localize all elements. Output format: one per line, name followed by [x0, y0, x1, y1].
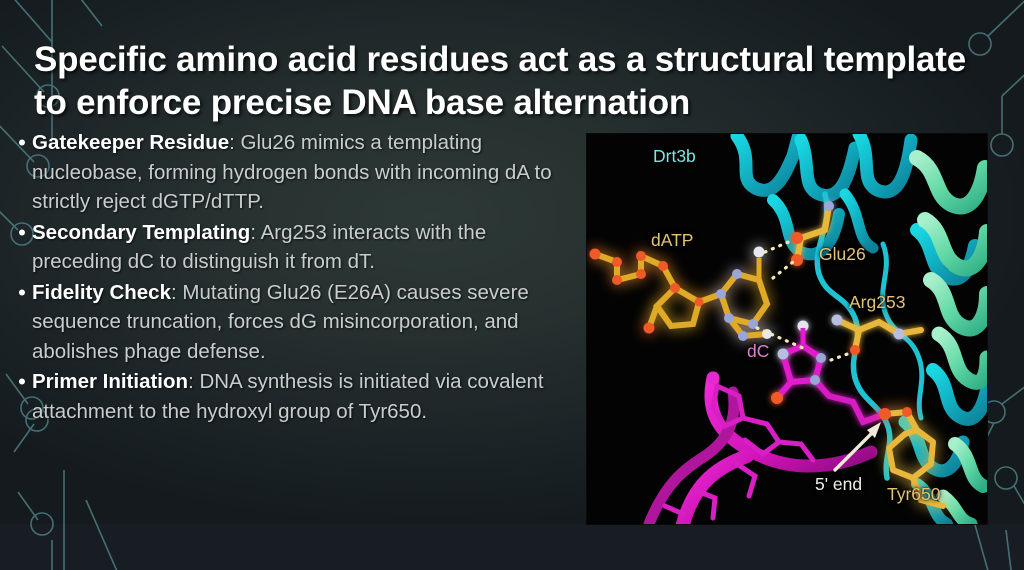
bullet-marker: • [12, 367, 32, 397]
bullet-marker: • [12, 128, 32, 158]
bullet-list: • Gatekeeper Residue: Glu26 mimics a tem… [12, 128, 572, 427]
bullet-separator: : [171, 281, 182, 304]
bullet-content: Secondary Templating: Arg253 interacts w… [32, 218, 572, 277]
bullet-separator: : [250, 221, 260, 244]
slide-title: Specific amino acid residues act as a st… [34, 39, 984, 124]
bullet-lead: Primer Initiation [32, 370, 188, 393]
bullet-separator: : [188, 370, 199, 393]
bullet-lead: Secondary Templating [32, 221, 250, 244]
bullet-marker: • [12, 218, 32, 248]
list-item: • Secondary Templating: Arg253 interacts… [12, 218, 572, 277]
bullet-content: Fidelity Check: Mutating Glu26 (E26A) ca… [32, 278, 572, 367]
structure-render [587, 134, 987, 524]
list-item: • Primer Initiation: DNA synthesis is in… [12, 367, 572, 426]
bottom-band [0, 524, 1024, 570]
bullet-content: Gatekeeper Residue: Glu26 mimics a templ… [32, 128, 572, 217]
slide-canvas: Specific amino acid residues act as a st… [0, 0, 1024, 570]
bullet-marker: • [12, 278, 32, 308]
bullet-lead: Gatekeeper Residue [32, 131, 229, 154]
bullet-separator: : [229, 131, 240, 154]
list-item: • Gatekeeper Residue: Glu26 mimics a tem… [12, 128, 572, 217]
list-item: • Fidelity Check: Mutating Glu26 (E26A) … [12, 278, 572, 367]
bullet-content: Primer Initiation: DNA synthesis is init… [32, 367, 572, 426]
molecular-structure-figure: Drt3b dATP Glu26 Arg253 dC 5' end Tyr650 [587, 134, 987, 524]
bullet-lead: Fidelity Check [32, 281, 171, 304]
